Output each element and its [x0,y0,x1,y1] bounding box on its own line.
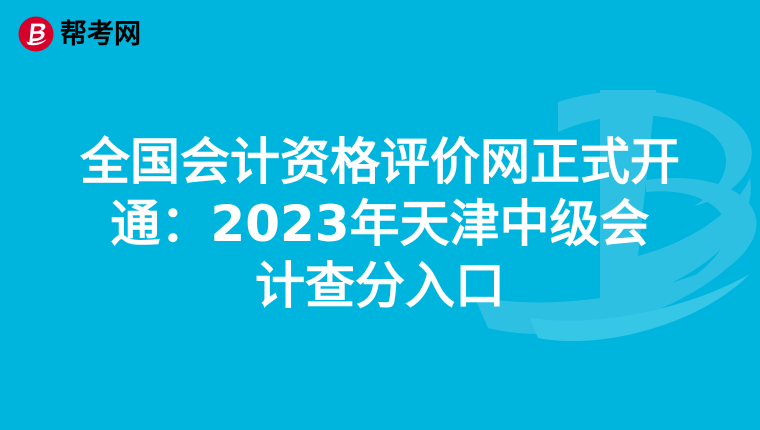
bangkao-b-logo-icon [18,16,54,52]
brand-name: 帮考网 [60,21,141,48]
brand-bar: 帮考网 [18,14,141,54]
poster-canvas: 帮考网 全国会计资格评价网正式开 通：2023年天津中级会 计查分入口 [0,0,760,430]
page-title-line-2: 通：2023年天津中级会 [0,193,760,255]
page-title-line-3: 计查分入口 [0,255,760,317]
page-title: 全国会计资格评价网正式开 通：2023年天津中级会 计查分入口 [0,131,760,317]
page-title-line-1: 全国会计资格评价网正式开 [0,131,760,193]
